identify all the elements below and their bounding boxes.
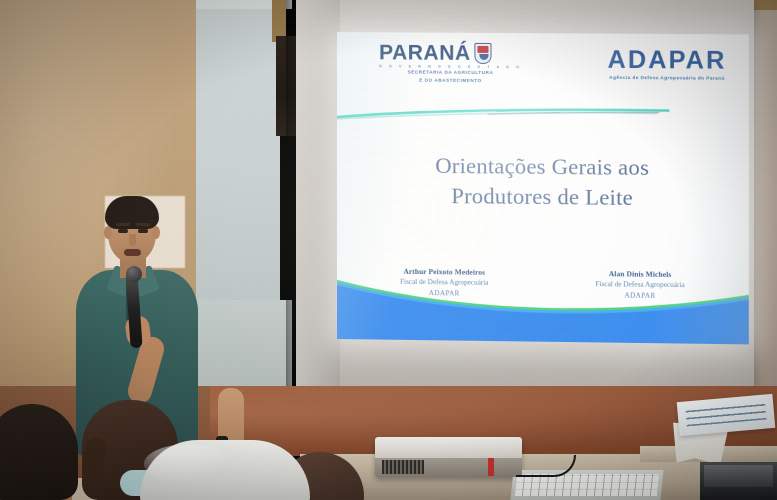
projected-slide: PARANÁ G O V E R N O D O E S T A D O SEC… — [337, 32, 749, 344]
slide-logo-row: PARANÁ G O V E R N O D O E S T A D O SEC… — [337, 42, 749, 86]
speaker-eye-left — [118, 229, 128, 233]
laptop-screen — [704, 465, 773, 487]
laptop-device — [700, 462, 777, 500]
speaker-hair — [105, 196, 159, 229]
slide-presenter-row: Arthur Peixoto Medeiros Fiscal de Defesa… — [337, 265, 749, 303]
speaker-ear-right — [152, 226, 160, 239]
audience-head-1 — [0, 404, 78, 500]
presenter-block-2: Alan Dinis Michels Fiscal de Defesa Agro… — [542, 267, 739, 302]
parana-state-shield-icon — [475, 43, 492, 64]
parana-government-logo: PARANÁ G O V E R N O D O E S T A D O SEC… — [379, 42, 522, 84]
teal-accent-line — [337, 106, 749, 125]
adapar-wordmark: ADAPAR — [608, 48, 727, 74]
screen-fabric-fold — [296, 0, 340, 398]
audience-cap-highlight — [144, 444, 234, 484]
microphone-head-icon — [126, 266, 142, 282]
presenter-block-1: Arthur Peixoto Medeiros Fiscal de Defesa… — [347, 265, 542, 300]
projector-indicator — [488, 458, 494, 476]
slide-title-line2: Produtores de Leite — [337, 180, 749, 214]
projector-vent — [382, 460, 424, 474]
speaker-eye-right — [138, 229, 148, 233]
speaker-ear-left — [104, 226, 112, 239]
speaker-mouth — [124, 249, 141, 256]
presentation-scene-photo: PARANÁ G O V E R N O D O E S T A D O SEC… — [0, 0, 777, 500]
slide-title: Orientações Gerais aos Produtores de Lei… — [337, 150, 749, 214]
slide-title-line1: Orientações Gerais aos — [337, 150, 749, 184]
speaker-nose — [129, 234, 136, 246]
adapar-logo: ADAPAR Agência de Defesa Agropecuária do… — [608, 44, 727, 81]
adapar-tagline: Agência de Defesa Agropecuária do Paraná — [608, 75, 727, 81]
parana-secretariat-line2: E DO ABASTECIMENTO — [379, 77, 522, 85]
parana-secretariat-line1: SECRETARIA DA AGRICULTURA — [379, 69, 522, 77]
parana-wordmark: PARANÁ — [379, 42, 471, 64]
paper-text-lines — [685, 404, 766, 427]
